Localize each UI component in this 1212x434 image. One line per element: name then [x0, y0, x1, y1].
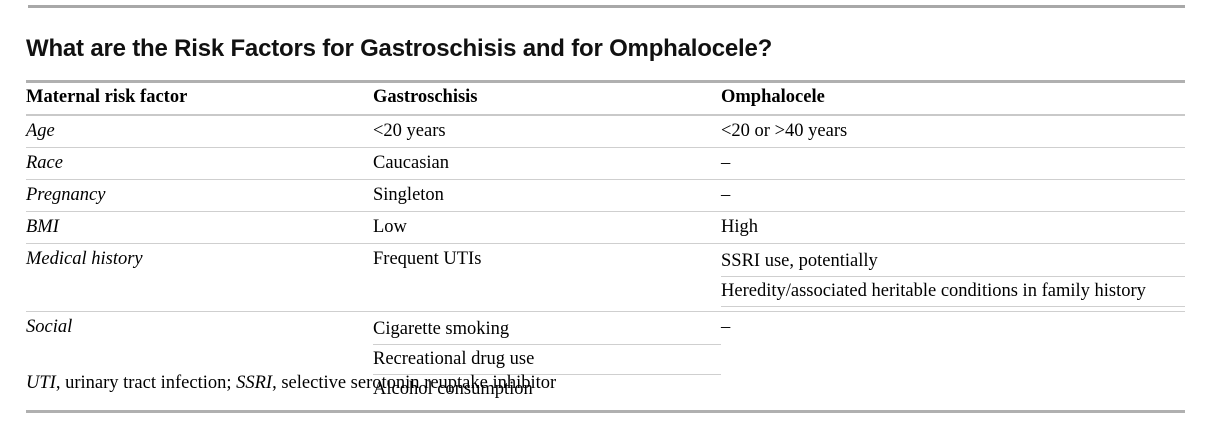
- table-row: Race Caucasian –: [26, 148, 1185, 180]
- column-header-gastroschisis: Gastroschisis: [373, 82, 721, 116]
- table-header: Maternal risk factor Gastroschisis Ompha…: [26, 82, 1185, 116]
- stacked-value: Cigarette smoking: [373, 315, 721, 345]
- cell-risk-factor: Race: [26, 148, 373, 180]
- cell-gastroschisis: Singleton: [373, 180, 721, 212]
- stacked-values: SSRI use, potentially Heredity/associate…: [721, 247, 1185, 307]
- table-row: BMI Low High: [26, 212, 1185, 244]
- cell-gastroschisis: Frequent UTIs: [373, 244, 721, 312]
- cell-omphalocele: –: [721, 180, 1185, 212]
- cell-gastroschisis: Low: [373, 212, 721, 244]
- cell-gastroschisis: Caucasian: [373, 148, 721, 180]
- stacked-value: Heredity/associated heritable conditions…: [721, 277, 1185, 307]
- footnote-abbreviation-uti: UTI: [26, 373, 56, 393]
- cell-risk-factor: Social: [26, 312, 373, 412]
- cell-omphalocele: SSRI use, potentially Heredity/associate…: [721, 244, 1185, 312]
- cell-risk-factor: Age: [26, 115, 373, 148]
- top-divider: [28, 5, 1185, 8]
- document-page: What are the Risk Factors for Gastroschi…: [0, 0, 1212, 434]
- page-title: What are the Risk Factors for Gastroschi…: [26, 34, 1186, 64]
- table-footnote: UTI, urinary tract infection; SSRI, sele…: [26, 371, 1186, 395]
- cell-gastroschisis: <20 years: [373, 115, 721, 148]
- footnote-abbreviation-ssri: SSRI: [236, 373, 272, 393]
- table-body: Age <20 years <20 or >40 years Race Cauc…: [26, 115, 1185, 412]
- footnote-text-ssri: , selective serotonin reuptake inhibitor: [272, 373, 556, 393]
- cell-omphalocele: –: [721, 312, 1185, 412]
- cell-omphalocele: <20 or >40 years: [721, 115, 1185, 148]
- cell-risk-factor: BMI: [26, 212, 373, 244]
- risk-factor-table-container: Maternal risk factor Gastroschisis Ompha…: [26, 80, 1185, 413]
- cell-risk-factor: Medical history: [26, 244, 373, 312]
- cell-omphalocele: High: [721, 212, 1185, 244]
- cell-omphalocele: –: [721, 148, 1185, 180]
- table-row: Medical history Frequent UTIs SSRI use, …: [26, 244, 1185, 312]
- table-header-row: Maternal risk factor Gastroschisis Ompha…: [26, 82, 1185, 116]
- table-row: Age <20 years <20 or >40 years: [26, 115, 1185, 148]
- table-row: Social Cigarette smoking Recreational dr…: [26, 312, 1185, 412]
- table-row: Pregnancy Singleton –: [26, 180, 1185, 212]
- cell-gastroschisis: Cigarette smoking Recreational drug use …: [373, 312, 721, 412]
- column-header-maternal-risk-factor: Maternal risk factor: [26, 82, 373, 116]
- column-header-omphalocele: Omphalocele: [721, 82, 1185, 116]
- risk-factor-table: Maternal risk factor Gastroschisis Ompha…: [26, 80, 1185, 413]
- footnote-text-uti: , urinary tract infection;: [56, 373, 236, 393]
- cell-risk-factor: Pregnancy: [26, 180, 373, 212]
- stacked-value: SSRI use, potentially: [721, 247, 1185, 277]
